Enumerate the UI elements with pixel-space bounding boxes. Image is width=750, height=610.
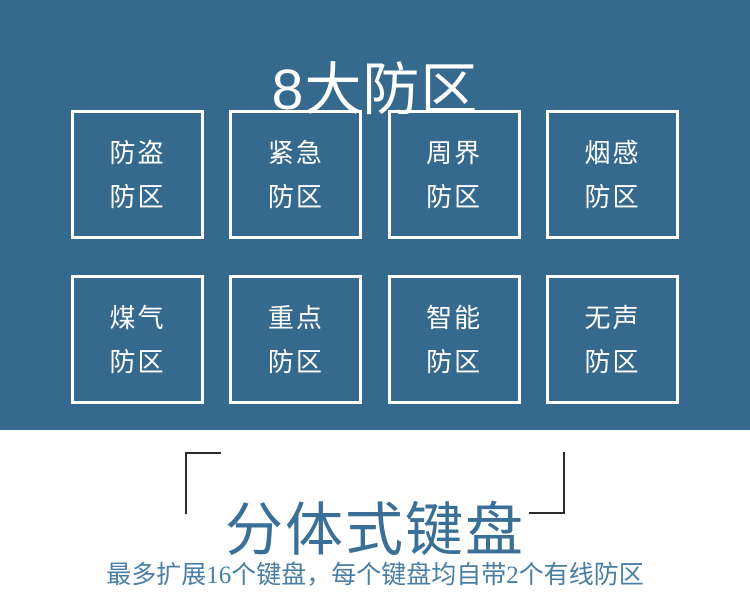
zone-box-label-line2: 防区 bbox=[584, 340, 640, 384]
zone-box-label-line1: 无声 bbox=[584, 296, 640, 340]
zone-box-burglar[interactable]: 防盗 防区 bbox=[71, 110, 204, 239]
zone-box-label-line1: 紧急 bbox=[268, 131, 324, 175]
zone-box-label-line1: 防盗 bbox=[109, 131, 165, 175]
zone-box-label-line1: 煤气 bbox=[109, 296, 165, 340]
zone-box-smart[interactable]: 智能 防区 bbox=[388, 275, 521, 404]
zone-box-gas[interactable]: 煤气 防区 bbox=[71, 275, 204, 404]
keypad-section-title: 分体式键盘 bbox=[225, 500, 525, 562]
zone-box-label-line2: 防区 bbox=[109, 175, 165, 219]
zone-box-label-line2: 防区 bbox=[268, 340, 324, 384]
keypad-section: 分体式键盘 最多扩展16个键盘，每个键盘均自带2个有线防区 bbox=[0, 430, 750, 593]
zone-box-label-line2: 防区 bbox=[426, 340, 482, 384]
zone-box-emergency[interactable]: 紧急 防区 bbox=[229, 110, 362, 239]
zones-section: 8大防区 防盗 防区 紧急 防区 周界 防区 烟感 防区 bbox=[0, 0, 750, 430]
zone-box-label-line1: 烟感 bbox=[584, 131, 640, 175]
keypad-section-subtitle: 最多扩展16个键盘，每个键盘均自带2个有线防区 bbox=[0, 559, 750, 593]
zone-box-label-line1: 重点 bbox=[268, 296, 324, 340]
zone-box-label-line2: 防区 bbox=[426, 175, 482, 219]
zone-grid-row-2: 煤气 防区 重点 防区 智能 防区 无声 防区 bbox=[71, 275, 679, 404]
zone-box-silent[interactable]: 无声 防区 bbox=[546, 275, 679, 404]
bracket-right-icon bbox=[529, 452, 565, 514]
zone-box-priority[interactable]: 重点 防区 bbox=[229, 275, 362, 404]
zone-grid: 防盗 防区 紧急 防区 周界 防区 烟感 防区 煤气 bbox=[71, 110, 679, 404]
zone-box-label-line1: 周界 bbox=[426, 131, 482, 175]
promo-page: 8大防区 防盗 防区 紧急 防区 周界 防区 烟感 防区 bbox=[0, 0, 750, 593]
zone-box-label-line2: 防区 bbox=[109, 340, 165, 384]
zone-box-label-line1: 智能 bbox=[426, 296, 482, 340]
zone-box-smoke[interactable]: 烟感 防区 bbox=[546, 110, 679, 239]
zone-grid-row-1: 防盗 防区 紧急 防区 周界 防区 烟感 防区 bbox=[71, 110, 679, 239]
zone-box-label-line2: 防区 bbox=[584, 175, 640, 219]
zone-box-label-line2: 防区 bbox=[268, 175, 324, 219]
zone-box-perimeter[interactable]: 周界 防区 bbox=[388, 110, 521, 239]
bracket-left-icon bbox=[185, 452, 221, 514]
